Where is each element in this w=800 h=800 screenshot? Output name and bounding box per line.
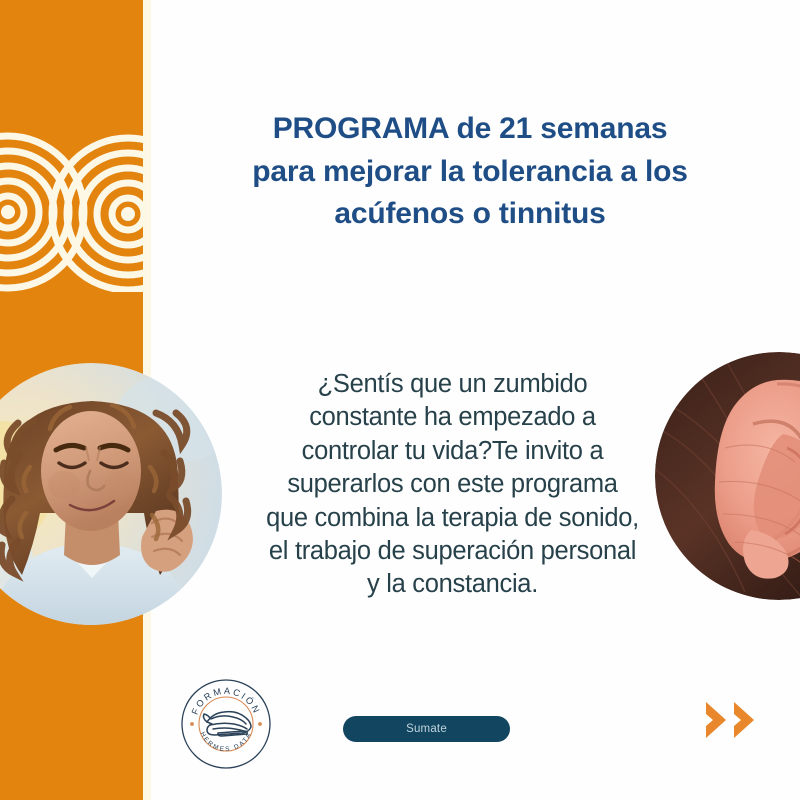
poster-canvas: PROGRAMA de 21 semanas para mejorar la t… [0,0,800,800]
title-line-1: PROGRAMA de 21 semanas [180,108,760,151]
sumate-button-label: Sumate [406,723,447,735]
sumate-button[interactable]: Sumate [343,716,510,742]
page-title: PROGRAMA de 21 semanas para mejorar la t… [180,108,760,236]
double-chevron-right-icon[interactable] [702,698,764,742]
body-paragraph: ¿Sentís que un zumbido constante ha empe… [265,368,640,602]
brand-logo: FORMACIÓN HERMES DATA [180,678,272,770]
title-line-3: acúfenos o tinnitus [180,193,760,236]
woman-touching-ear-photo [0,363,222,625]
title-line-2: para mejorar la tolerancia a los [180,151,760,194]
ear-closeup-photo [655,352,800,600]
